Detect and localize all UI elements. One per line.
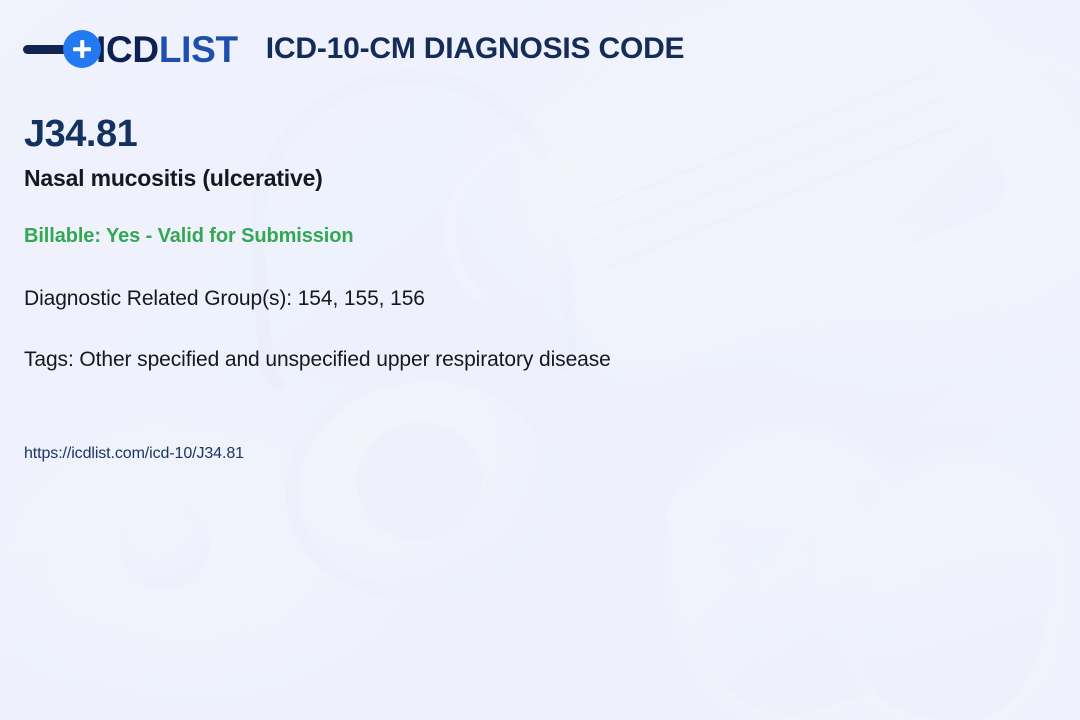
source-url-link[interactable]: https://icdlist.com/icd-10/J34.81	[24, 444, 244, 463]
diagnosis-description: Nasal mucositis (ulcerative)	[24, 165, 323, 193]
diagnostic-related-groups: Diagnostic Related Group(s): 154, 155, 1…	[24, 286, 425, 311]
gloved-hand-graphic	[836, 453, 1074, 720]
stethoscope-earpiece-right-graphic	[400, 470, 472, 542]
page-title: ICD-10-CM DIAGNOSIS CODE	[266, 34, 685, 64]
plus-icon	[63, 30, 101, 68]
icdlist-logo[interactable]: ICDLIST	[23, 30, 238, 68]
tags-line: Tags: Other specified and unspecified up…	[24, 347, 611, 372]
stethoscope-bell-graphic	[269, 350, 577, 620]
mask-earloop-left-graphic	[432, 124, 647, 339]
mask-earloop-right-graphic	[901, 32, 1080, 269]
diagnosis-code: J34.81	[24, 113, 137, 157]
billable-status-badge: Billable: Yes - Valid for Submission	[24, 224, 353, 248]
mask-pleat-graphic	[591, 96, 950, 242]
glove-finger-graphic	[736, 478, 828, 648]
gloved-hand-graphic	[647, 414, 943, 720]
paper-heart-graphic	[684, 454, 835, 605]
glove-finger-graphic	[668, 496, 786, 654]
icd-code-card: ICDLIST ICD-10-CM DIAGNOSIS CODE J34.81 …	[0, 0, 1080, 720]
logo-word-list: LIST	[159, 29, 238, 70]
header: ICDLIST ICD-10-CM DIAGNOSIS CODE	[23, 30, 684, 68]
glove-finger-graphic	[859, 509, 929, 647]
stethoscope-earpiece-left-graphic	[112, 492, 219, 599]
logo-wordmark: ICDLIST	[96, 31, 238, 68]
glove-finger-graphic	[812, 491, 869, 643]
logo-word-icd: ICD	[96, 29, 159, 70]
